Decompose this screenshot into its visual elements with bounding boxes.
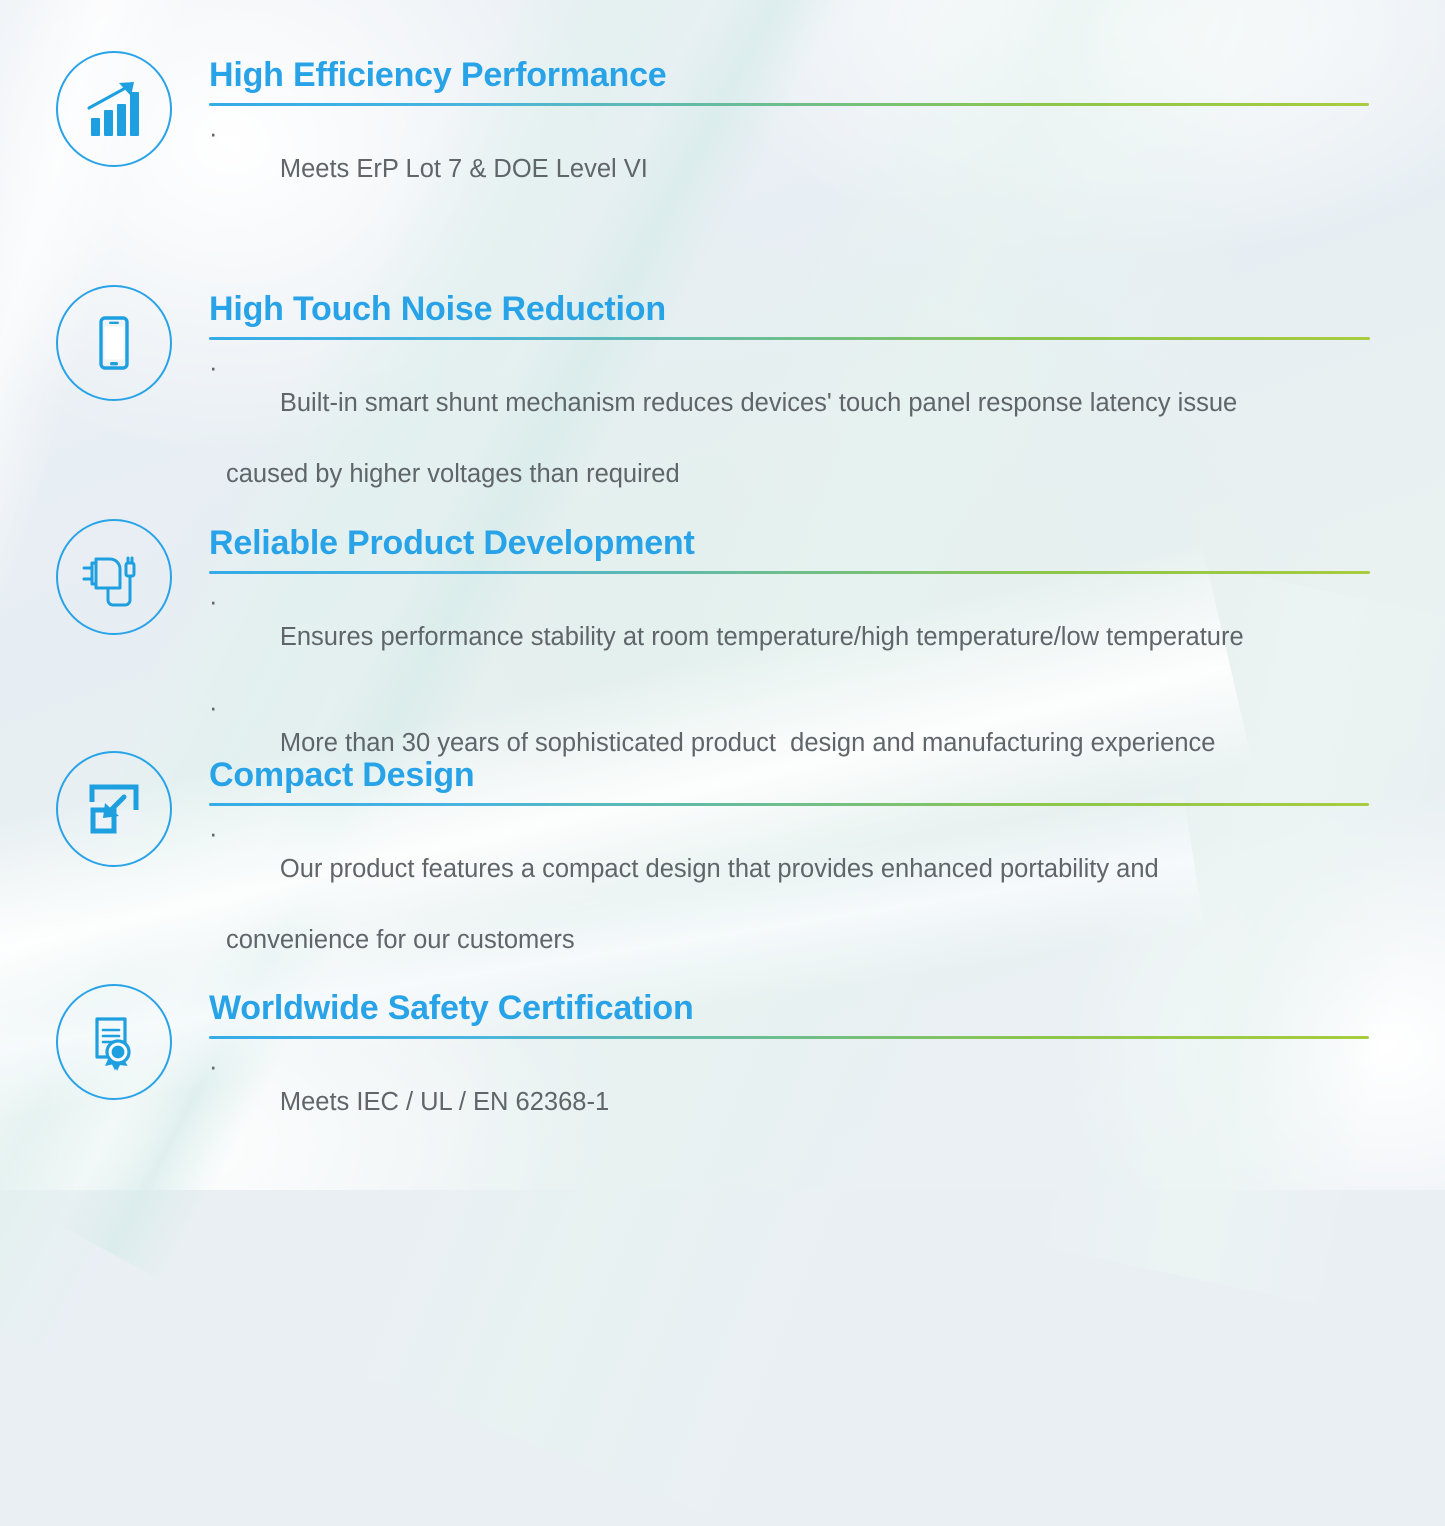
feature-icon-wrap bbox=[55, 750, 173, 868]
bullet-text: Ensures performance stability at room te… bbox=[280, 623, 1244, 651]
feature-title: Worldwide Safety Certification bbox=[209, 989, 1369, 1027]
feature-divider bbox=[209, 103, 1369, 106]
bullet-item: · Ensures performance stability at room … bbox=[209, 585, 1370, 691]
power-adapter-icon bbox=[56, 519, 172, 635]
bullet-marker: · bbox=[209, 694, 218, 722]
bullet-text-continued: convenience for our customers bbox=[209, 923, 1369, 958]
feature-bullets: · Meets ErP Lot 7 & DOE Level VI bbox=[209, 117, 1369, 223]
feature-title: High Efficiency Performance bbox=[209, 56, 1369, 94]
bullet-text-continued: caused by higher voltages than required bbox=[209, 457, 1370, 492]
bullet-item: · Meets IEC / UL / EN 62368-1 bbox=[209, 1050, 1369, 1156]
feature-item-high-efficiency-performance: High Efficiency Performance · Meets ErP … bbox=[55, 50, 1370, 223]
smartphone-icon bbox=[56, 285, 172, 401]
feature-icon-wrap bbox=[55, 50, 173, 168]
feature-divider bbox=[209, 1036, 1369, 1039]
feature-icon-wrap bbox=[55, 284, 173, 402]
feature-list: High Efficiency Performance · Meets ErP … bbox=[0, 0, 1445, 1190]
feature-bullets: · Meets IEC / UL / EN 62368-1 bbox=[209, 1050, 1369, 1156]
bullet-text: Meets IEC / UL / EN 62368-1 bbox=[280, 1088, 609, 1116]
feature-divider bbox=[209, 571, 1370, 574]
compact-resize-icon bbox=[56, 751, 172, 867]
bullet-text: Meets ErP Lot 7 & DOE Level VI bbox=[280, 155, 648, 183]
bullet-marker: · bbox=[209, 588, 218, 616]
feature-divider bbox=[209, 337, 1370, 340]
feature-divider bbox=[209, 803, 1369, 806]
bullet-marker: · bbox=[209, 1053, 218, 1081]
bullet-text: Built-in smart shunt mechanism reduces d… bbox=[280, 389, 1237, 417]
feature-title: Reliable Product Development bbox=[209, 524, 1370, 562]
bullet-marker: · bbox=[209, 120, 218, 148]
bullet-marker: · bbox=[209, 820, 218, 848]
feature-icon-wrap bbox=[55, 518, 173, 636]
feature-item-worldwide-safety-certification: Worldwide Safety Certification · Meets I… bbox=[55, 983, 1370, 1156]
bullet-item: · Meets ErP Lot 7 & DOE Level VI bbox=[209, 117, 1369, 223]
bullet-marker: · bbox=[209, 354, 218, 382]
feature-title: Compact Design bbox=[209, 756, 1369, 794]
feature-icon-wrap bbox=[55, 983, 173, 1101]
bar-chart-growth-icon bbox=[56, 51, 172, 167]
certificate-award-icon bbox=[56, 984, 172, 1100]
feature-title: High Touch Noise Reduction bbox=[209, 290, 1370, 328]
bullet-text: Our product features a compact design th… bbox=[280, 855, 1159, 883]
